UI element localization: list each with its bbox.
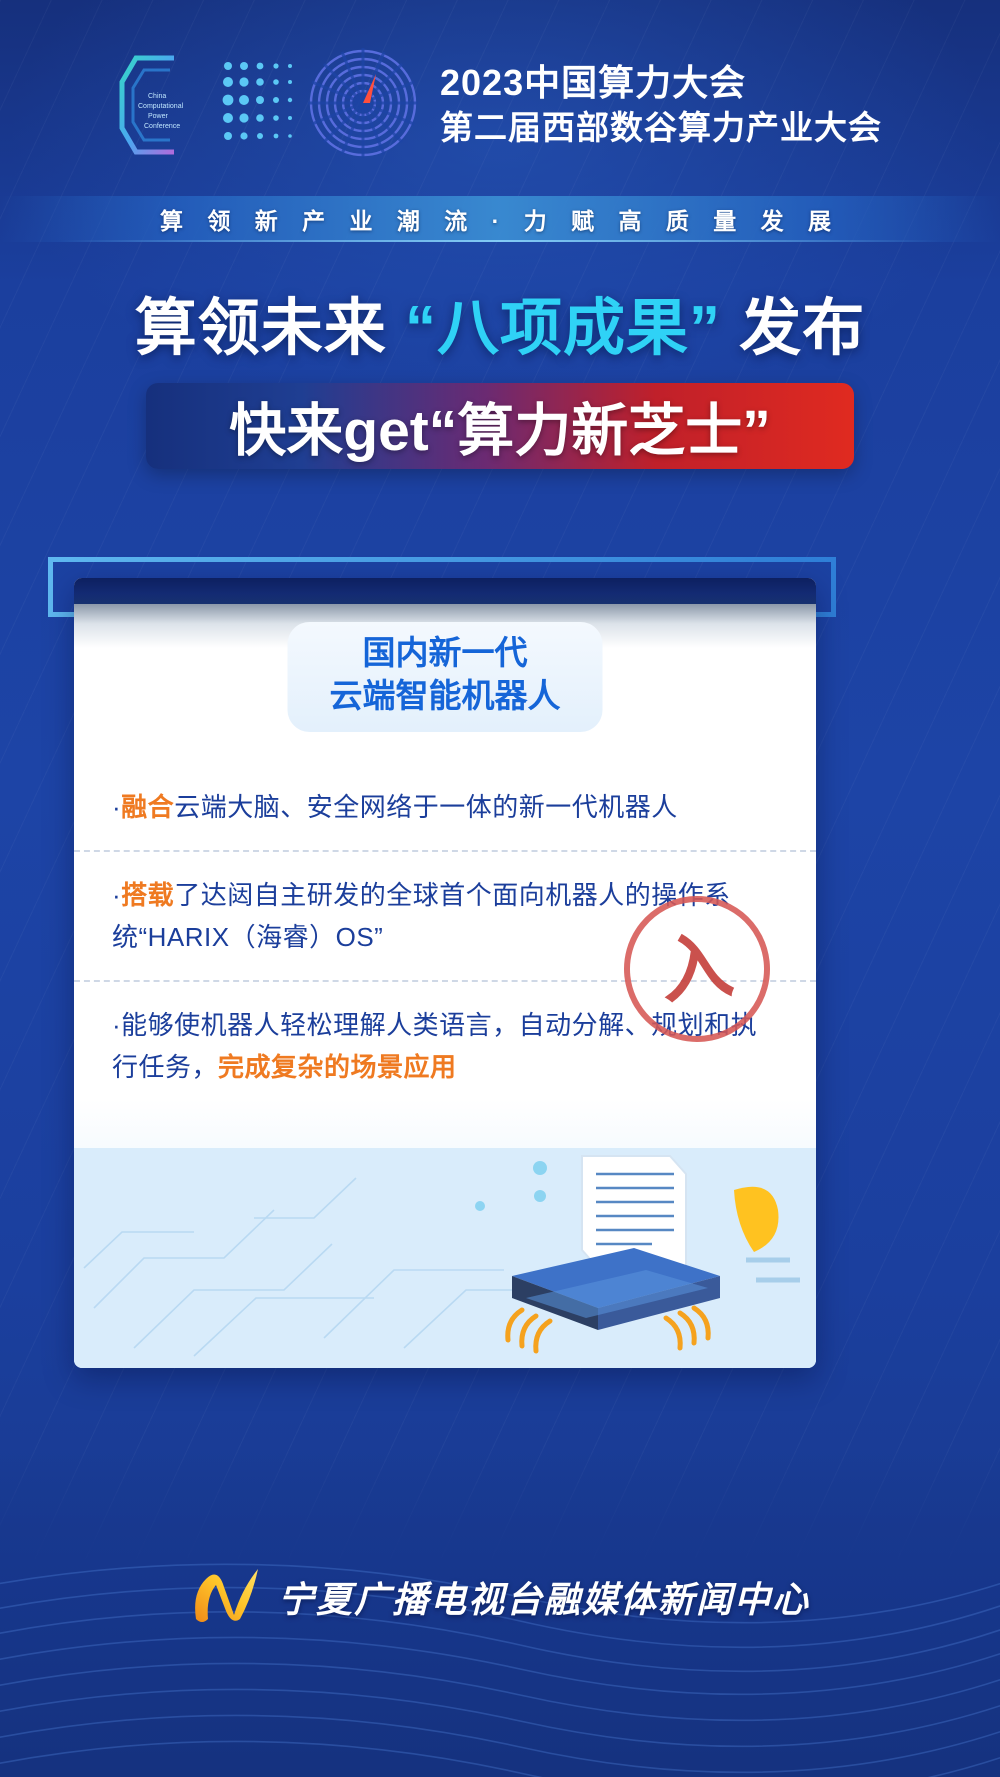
- result-card: 国内新一代 云端智能机器人 ·融合云端大脑、安全网络于一体的新一代机器人 ·搭载…: [74, 578, 816, 1368]
- bullet-marker: ·: [112, 880, 121, 910]
- headline-part2: 发布: [721, 294, 865, 363]
- poster-root: China Computational Power Conference: [0, 0, 1000, 1777]
- headline-line1: 算领未来 “八项成果” 发布: [0, 296, 1000, 363]
- svg-text:Computational: Computational: [138, 103, 184, 110]
- ningxia-n-logo-icon: [190, 1563, 264, 1630]
- conference-title: 2023中国算力大会 第二届西部数谷算力产业大会: [440, 62, 882, 147]
- bullet-marker: ·: [112, 792, 121, 822]
- conference-title-line1: 2023中国算力大会: [440, 62, 882, 104]
- stamp-char: 入: [657, 929, 736, 1008]
- card-title-line2: 云端智能机器人: [330, 675, 561, 718]
- bullet-trailing-highlight: 完成复杂的场景应用: [218, 1052, 457, 1082]
- card-title-pill: 国内新一代 云端智能机器人: [288, 622, 603, 732]
- conference-logo-group: China Computational Power Conference: [118, 44, 422, 167]
- slogan-bar: 算 领 新 产 业 潮 流 · 力 赋 高 质 量 发 展: [0, 196, 1000, 242]
- bullet-highlight: 搭载: [121, 880, 174, 910]
- list-item: ·融合云端大脑、安全网络于一体的新一代机器人: [74, 764, 816, 850]
- svg-text:Conference: Conference: [144, 123, 180, 130]
- headline-block: 算领未来 “八项成果” 发布 快来get“算力新芝士”: [0, 296, 1000, 469]
- poster-footer: 宁夏广播电视台融媒体新闻中心: [0, 1447, 1000, 1777]
- headline-line2: 快来get“算力新芝士”: [229, 385, 771, 467]
- svg-text:China: China: [148, 93, 166, 100]
- svg-text:Power: Power: [148, 113, 169, 120]
- footer-content: 宁夏广播电视台融媒体新闻中心: [0, 1563, 1000, 1630]
- bullet-text: 云端大脑、安全网络于一体的新一代机器人: [174, 792, 678, 822]
- hexagon-logo-icon: China Computational Power Conference: [118, 50, 214, 160]
- slogan-text: 算 领 新 产 业 潮 流 · 力 赋 高 质 量 发 展: [160, 202, 840, 236]
- card-title-line1: 国内新一代: [330, 632, 561, 675]
- headline-banner: 快来get“算力新芝士”: [146, 383, 854, 469]
- bullet-highlight: 融合: [121, 792, 174, 822]
- card-top-bar: [74, 578, 816, 604]
- radial-fan-logo-icon: [304, 44, 422, 167]
- headline-highlight: “八项成果”: [405, 294, 721, 363]
- bullet-marker: ·: [112, 1010, 121, 1040]
- headline-part1: 算领未来: [135, 294, 405, 363]
- server-document-illustration: [74, 1148, 816, 1368]
- footer-org-name: 宁夏广播电视台融媒体新闻中心: [278, 1571, 810, 1623]
- conference-title-line2: 第二届西部数谷算力产业大会: [440, 109, 882, 148]
- logo-dot-matrix-icon: [220, 48, 298, 163]
- poster-header: China Computational Power Conference: [0, 0, 1000, 200]
